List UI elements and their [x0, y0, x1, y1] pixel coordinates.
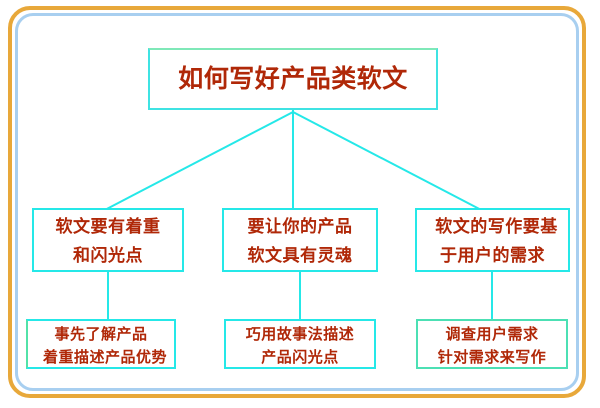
node-leaf-story-method[interactable]: 巧用故事法描述 产品闪光点 [224, 319, 376, 369]
node-leaf-survey-needs[interactable]: 调查用户需求 针对需求来写作 [416, 319, 568, 369]
connector-l2c-to-l3c [491, 272, 493, 319]
node-branch-soul-line2: 软文具有灵魂 [224, 242, 376, 271]
node-branch-user-needs-line2: 于用户的需求 [417, 242, 568, 271]
node-branch-user-needs-line1: 软文的写作要基 [421, 213, 572, 242]
node-branch-user-needs[interactable]: 软文的写作要基 于用户的需求 [415, 208, 570, 272]
node-root-text: 如何写好产品类软文 [150, 50, 436, 108]
node-leaf-product-advantage-line1: 事先了解产品 [28, 323, 174, 346]
connector-l2a-to-l3a [107, 272, 109, 319]
node-leaf-survey-needs-line2: 针对需求来写作 [418, 346, 566, 369]
connector-l2b-to-l3b [299, 272, 301, 319]
node-leaf-product-advantage-line2: 着重描述产品优势 [32, 346, 178, 369]
node-leaf-story-method-line1: 巧用故事法描述 [226, 323, 374, 346]
node-branch-highlight[interactable]: 软文要有着重 和闪光点 [32, 208, 184, 272]
node-branch-highlight-line1: 软文要有着重 [34, 213, 182, 242]
node-branch-soul[interactable]: 要让你的产品 软文具有灵魂 [222, 208, 378, 272]
connector-root-to-middle [292, 110, 294, 208]
diagram-canvas: 如何写好产品类软文 软文要有着重 和闪光点 要让你的产品 软文具有灵魂 软文的写… [0, 0, 600, 408]
node-branch-soul-line1: 要让你的产品 [224, 213, 376, 242]
node-leaf-story-method-line2: 产品闪光点 [226, 346, 374, 369]
node-leaf-survey-needs-line1: 调查用户需求 [418, 323, 566, 346]
node-leaf-product-advantage[interactable]: 事先了解产品 着重描述产品优势 [26, 319, 176, 369]
node-root-title[interactable]: 如何写好产品类软文 [148, 48, 438, 110]
node-branch-highlight-line2: 和闪光点 [34, 242, 182, 271]
